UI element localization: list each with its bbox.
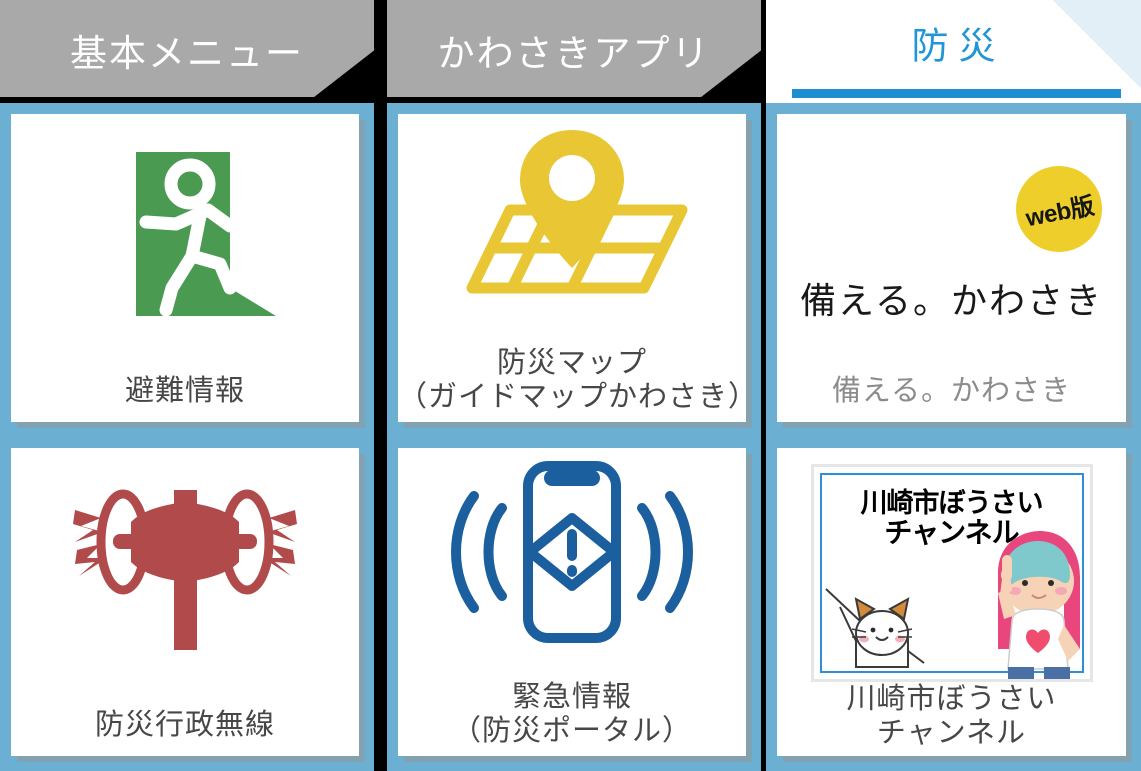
card-disaster-radio[interactable]: 防災行政無線 [0,437,374,771]
tab-disaster-prevention-label: 防災 [766,25,1141,68]
card-sonaeru-kawasaki[interactable]: web版 備える。かわさき 備える。かわさき [766,103,1141,437]
web-version-badge-label: web版 [1022,185,1096,232]
tab-basic-menu[interactable]: 基本メニュー [0,0,374,97]
card-surface: 避難情報 [11,114,359,422]
bousai-channel-thumbnail: 川崎市ぼうさい チャンネル [811,464,1093,682]
card-title: 備える。かわさき [777,272,1126,324]
smartphone-alert-icon [398,456,746,646]
tab-kawasaki-app-label: かわさきアプリ [387,31,761,66]
card-label-line-2: （防災ポータル） [398,714,746,748]
disaster-prevention-menu-screen: 基本メニュー かわさきアプリ 防災 [0,0,1141,771]
card-evacuation-info[interactable]: 避難情報 [0,103,374,437]
tab-disaster-prevention[interactable]: 防災 [766,0,1141,103]
card-label: 備える。かわさき [777,374,1126,408]
card-disaster-map[interactable]: 防災マップ （ガイドマップかわさき） [387,103,761,437]
card-label-line-1: 防災マップ [398,346,746,380]
card-surface: web版 備える。かわさき 備える。かわさき [777,114,1126,422]
cat-mascot-icon [820,567,940,677]
girl-mascot-icon [968,529,1088,679]
card-label: 緊急情報 （防災ポータル） [398,680,746,748]
loudspeaker-tower-icon [11,464,359,679]
card-emergency-info[interactable]: 緊急情報 （防災ポータル） [387,437,761,771]
card-label-line-1: 緊急情報 [398,680,746,714]
card-label: 川崎市ぼうさい チャンネル [777,682,1126,750]
grid-column-1: 避難情報 [0,103,374,771]
card-label: 避難情報 [11,374,359,408]
card-label: 防災行政無線 [11,708,359,742]
card-label: 防災マップ （ガイドマップかわさき） [398,346,746,414]
tab-kawasaki-app[interactable]: かわさきアプリ [387,0,761,97]
card-label-line-2: チャンネル [777,716,1126,750]
active-tab-underline [792,89,1121,98]
card-surface: 防災行政無線 [11,448,359,756]
card-surface: 防災マップ （ガイドマップかわさき） [398,114,746,422]
running-person-exit-icon [11,130,359,345]
grid-column-3: web版 備える。かわさき 備える。かわさき 川崎市ぼうさい [766,103,1141,771]
thumbnail-title-line-1: 川崎市ぼうさい [861,488,1043,518]
menu-grid: 避難情報 [0,103,1141,771]
card-label-line-2: （ガイドマップかわさき） [398,380,746,414]
tab-basic-menu-label: 基本メニュー [0,31,374,66]
web-version-badge: web版 [1016,166,1102,252]
card-bousai-channel[interactable]: 川崎市ぼうさい チャンネル [766,437,1141,771]
card-label-line-1: 川崎市ぼうさい [777,682,1126,716]
card-surface: 川崎市ぼうさい チャンネル [777,448,1126,756]
map-pin-icon [398,120,746,310]
grid-column-2: 防災マップ （ガイドマップかわさき） [387,103,761,771]
card-surface: 緊急情報 （防災ポータル） [398,448,746,756]
tab-bar: 基本メニュー かわさきアプリ 防災 [0,0,1141,103]
